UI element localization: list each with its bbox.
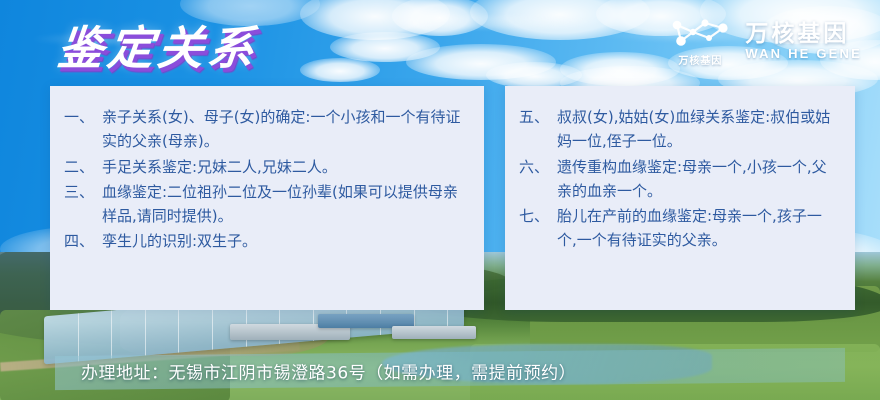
- cloud-shape: [486, 62, 582, 88]
- list-item-number: 三、: [64, 180, 102, 204]
- list-item-number: 五、: [519, 105, 557, 129]
- list-item-text: 孪生儿的识别:双生子。: [102, 229, 470, 253]
- brand-name-en: WAN HE GENE: [745, 47, 862, 62]
- brand-name-cn: 万核基因: [745, 21, 862, 47]
- address-text: 办理地址：无锡市江阴市锡澄路36号（如需办理，需提前预约）: [81, 358, 576, 383]
- poster-root: 鉴定关系: [0, 0, 880, 400]
- cloud-wisp: [380, 16, 600, 28]
- list-item-number: 六、: [519, 155, 557, 179]
- list-item: 五、 叔叔(女),姑姑(女)血绿关系鉴定:叔伯或姑妈一位,侄子一位。: [519, 105, 841, 154]
- logo-mark-label: 万核基因: [678, 52, 722, 67]
- list-item-number: 一、: [64, 105, 102, 129]
- list-item-number: 二、: [64, 155, 102, 179]
- brand-logo[interactable]: 万核基因 万核基因 WAN HE GENE: [667, 16, 862, 67]
- cloud-shape: [560, 52, 680, 86]
- list-item-text: 手足关系鉴定:兄妹二人,兄妹二人。: [102, 155, 470, 179]
- panel-left: 一、 亲子关系(女)、母子(女)的确定:一个小孩和一个有待证实的父亲(母亲)。 …: [50, 86, 484, 310]
- cloud-shape: [406, 44, 556, 80]
- molecule-icon: [667, 16, 733, 50]
- list-item: 四、 孪生儿的识别:双生子。: [64, 229, 470, 253]
- list-item-text: 叔叔(女),姑姑(女)血绿关系鉴定:叔伯或姑妈一位,侄子一位。: [557, 105, 841, 154]
- list-item: 六、 遗传重构血缘鉴定:母亲一个,小孩一个,父亲的血亲一个。: [519, 155, 841, 204]
- list-item-number: 七、: [519, 204, 557, 228]
- list-item-text: 亲子关系(女)、母子(女)的确定:一个小孩和一个有待证实的父亲(母亲)。: [102, 105, 470, 154]
- logo-wordmark: 万核基因 WAN HE GENE: [745, 21, 862, 61]
- list-item-text: 胎儿在产前的血缘鉴定:母亲一个,孩子一个,一个有待证实的父亲。: [557, 204, 841, 253]
- content-panels: 一、 亲子关系(女)、母子(女)的确定:一个小孩和一个有待证实的父亲(母亲)。 …: [50, 86, 855, 310]
- cloud-shape: [330, 32, 440, 62]
- logo-mark: 万核基因: [667, 16, 733, 67]
- list-item: 三、 血缘鉴定:二位祖孙二位及一位孙辈(如果可以提供母亲样品,请同时提供)。: [64, 180, 470, 229]
- panel-right: 五、 叔叔(女),姑姑(女)血绿关系鉴定:叔伯或姑妈一位,侄子一位。 六、 遗传…: [505, 86, 855, 310]
- building-shape: [392, 326, 476, 339]
- list-item-text: 遗传重构血缘鉴定:母亲一个,小孩一个,父亲的血亲一个。: [557, 155, 841, 204]
- list-item-text: 血缘鉴定:二位祖孙二位及一位孙辈(如果可以提供母亲样品,请同时提供)。: [102, 180, 470, 229]
- list-item: 一、 亲子关系(女)、母子(女)的确定:一个小孩和一个有待证实的父亲(母亲)。: [64, 105, 470, 154]
- list-item: 二、 手足关系鉴定:兄妹二人,兄妹二人。: [64, 155, 470, 179]
- page-title: 鉴定关系: [55, 12, 262, 78]
- cloud-shape: [300, 58, 380, 82]
- list-item-number: 四、: [64, 229, 102, 253]
- list-item: 七、 胎儿在产前的血缘鉴定:母亲一个,孩子一个,一个有待证实的父亲。: [519, 204, 841, 253]
